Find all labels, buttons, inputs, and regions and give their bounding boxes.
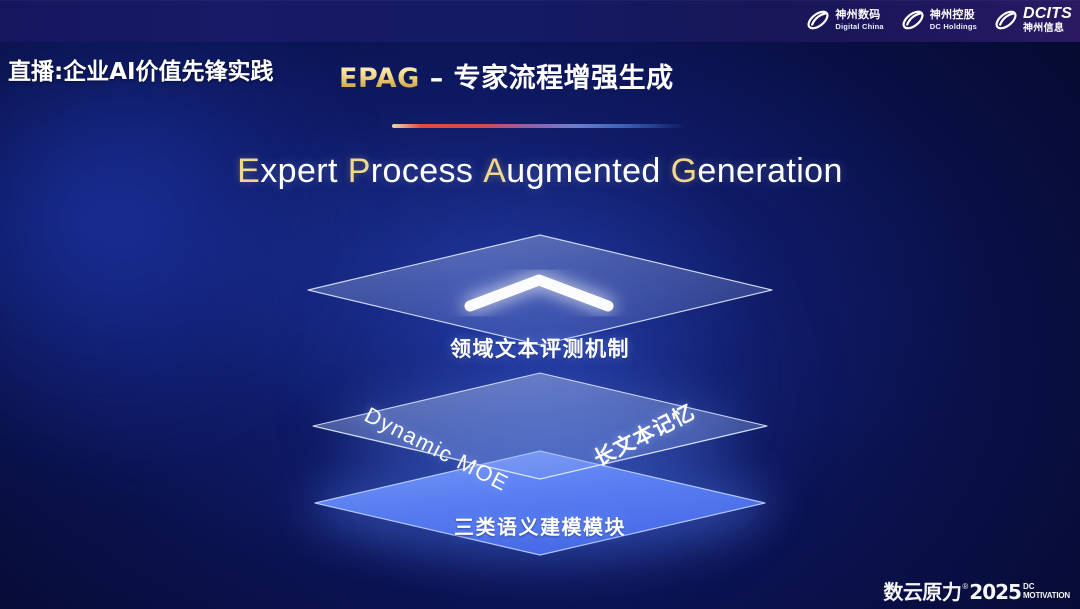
subtitle-space — [661, 152, 671, 190]
subtitle-initial: G — [671, 152, 698, 190]
partner-name-en: DCITS — [1023, 6, 1072, 22]
subtitle-word-process: Process — [348, 152, 474, 190]
partner-logo-text: 神州数码 Digital China — [835, 10, 883, 31]
subtitle-rest: xpert — [260, 152, 338, 190]
partner-name-en: DC Holdings — [930, 23, 977, 31]
footer-watermark: 数云原力 ® 2025 DC MOTIVATION — [883, 581, 1070, 603]
subtitle-rest: rocess — [371, 152, 474, 190]
subtitle-word-augmented: Augmented — [483, 152, 661, 190]
page-title: EPAG – 专家流程增强生成 — [339, 56, 674, 95]
subtitle-initial: P — [348, 152, 371, 190]
layer-label-top: 领域文本评测机制 — [0, 333, 1080, 363]
subtitle-word-generation: Generation — [671, 152, 843, 190]
swirl-logo-icon — [900, 7, 926, 33]
subtitle-word-expert: Expert — [237, 152, 338, 190]
subtitle-initial: E — [237, 152, 260, 190]
subtitle-expanded-acronym: Expert Process Augmented Generation — [0, 152, 1080, 191]
watermark-motivation-label: MOTIVATION — [1023, 591, 1070, 600]
partner-logo-text: DCITS 神州信息 — [1023, 6, 1072, 34]
watermark-registered-mark: ® — [962, 582, 968, 592]
swirl-logo-icon — [993, 7, 1019, 33]
page-title-dash: – — [420, 63, 454, 94]
subtitle-rest: eneration — [697, 152, 842, 190]
partner-name-en: Digital China — [835, 23, 883, 31]
subtitle-space — [338, 152, 348, 190]
subtitle-space — [473, 152, 483, 190]
watermark-name-cn: 数云原力 — [883, 581, 961, 603]
partner-logo-text: 神州控股 DC Holdings — [930, 10, 977, 31]
partner-logo-digital-china: 神州数码 Digital China — [805, 5, 883, 35]
watermark-dc-label: DC — [1023, 583, 1070, 591]
partner-name-cn: 神州数码 — [835, 10, 883, 21]
partner-logo-dcits: DCITS 神州信息 — [993, 5, 1072, 35]
watermark-dc-motivation: DC MOTIVATION — [1023, 583, 1070, 600]
subtitle-initial: A — [483, 152, 506, 190]
page-title-chinese: 专家流程增强生成 — [454, 63, 674, 94]
partner-name-cn: 神州信息 — [1023, 24, 1072, 34]
layer-label-bottom: 三类语义建模模块 — [0, 511, 1080, 540]
partner-name-cn: 神州控股 — [930, 10, 977, 21]
watermark-year: 2025 — [969, 581, 1021, 603]
swirl-logo-icon — [805, 7, 831, 33]
presentation-slide: 数云原力 ® 2025 DC MOTIVATION 神州数码 Digital C… — [0, 0, 1080, 609]
subtitle-rest: ugmented — [506, 152, 660, 190]
live-stream-title: 直播:企业AI价值先锋实践 — [8, 52, 274, 86]
gradient-divider — [392, 124, 687, 128]
page-title-acronym: EPAG — [339, 63, 420, 94]
partner-logo-dc-holdings: 神州控股 DC Holdings — [900, 5, 977, 35]
partner-logo-row: 神州数码 Digital China 神州控股 DC Holdings — [805, 5, 1072, 35]
